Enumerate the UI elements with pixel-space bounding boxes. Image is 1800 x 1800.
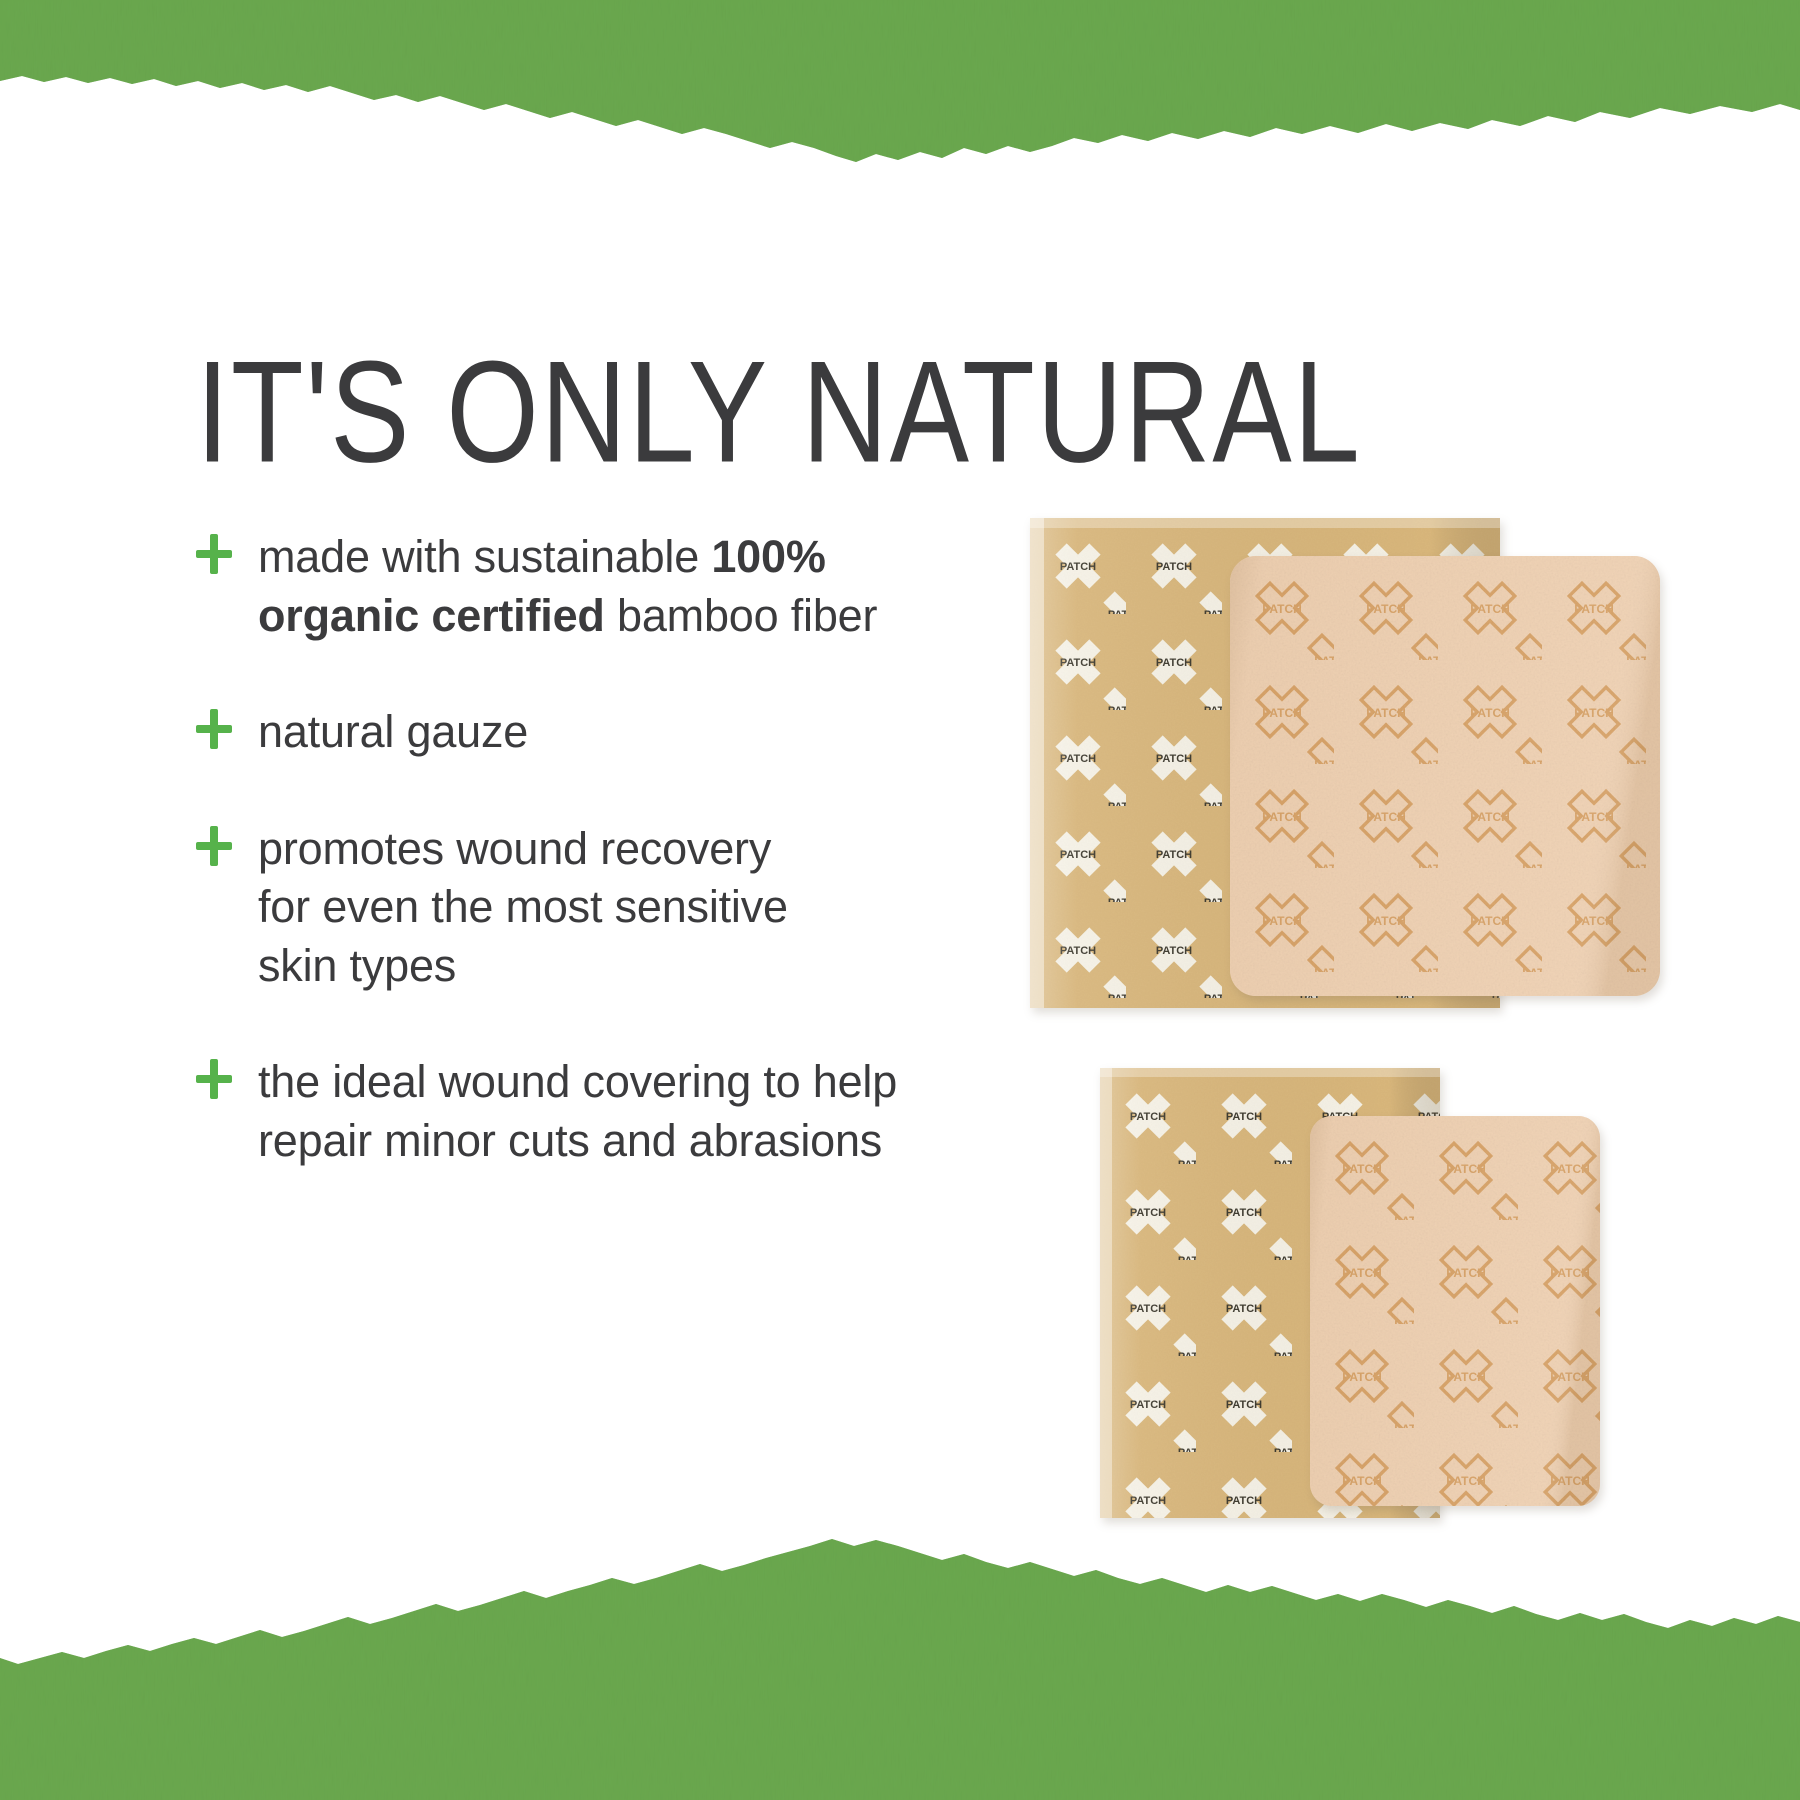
- fabric-bandage-rectangular-bottom: PATCH PATCH: [1310, 1116, 1600, 1506]
- list-item: made with sustainable 100% organic certi…: [196, 528, 926, 645]
- feature-tail-1: bamboo fiber: [605, 590, 878, 641]
- plus-icon: [196, 820, 236, 872]
- feature-text-2: natural gauze: [258, 703, 528, 762]
- page-title: IT'S ONLY NATURAL: [196, 344, 1219, 481]
- feature-lead-1: made with sustainable: [258, 531, 711, 582]
- product-image-rectangular-bandage: PATCH PATCH: [1100, 1068, 1670, 1528]
- product-image-square-bandage: PATCH PATCH: [1030, 518, 1670, 1018]
- poster-canvas: IT'S ONLY NATURAL made with sustainable …: [0, 0, 1800, 1800]
- feature-list: made with sustainable 100% organic certi…: [196, 528, 926, 1170]
- plus-icon: [196, 528, 236, 580]
- list-item: promotes wound recovery for even the mos…: [196, 820, 926, 996]
- torn-paper-band-top: [0, 0, 1800, 190]
- plus-icon: [196, 1053, 236, 1105]
- feature-text-4: the ideal wound covering to help repair …: [258, 1053, 926, 1170]
- feature-text-3: promotes wound recovery for even the mos…: [258, 820, 818, 996]
- list-item: natural gauze: [196, 703, 926, 762]
- feature-text-1: made with sustainable 100% organic certi…: [258, 528, 926, 645]
- list-item: the ideal wound covering to help repair …: [196, 1053, 926, 1170]
- fabric-bandage-square-top: PATCH PATCH: [1230, 556, 1660, 996]
- plus-icon: [196, 703, 236, 755]
